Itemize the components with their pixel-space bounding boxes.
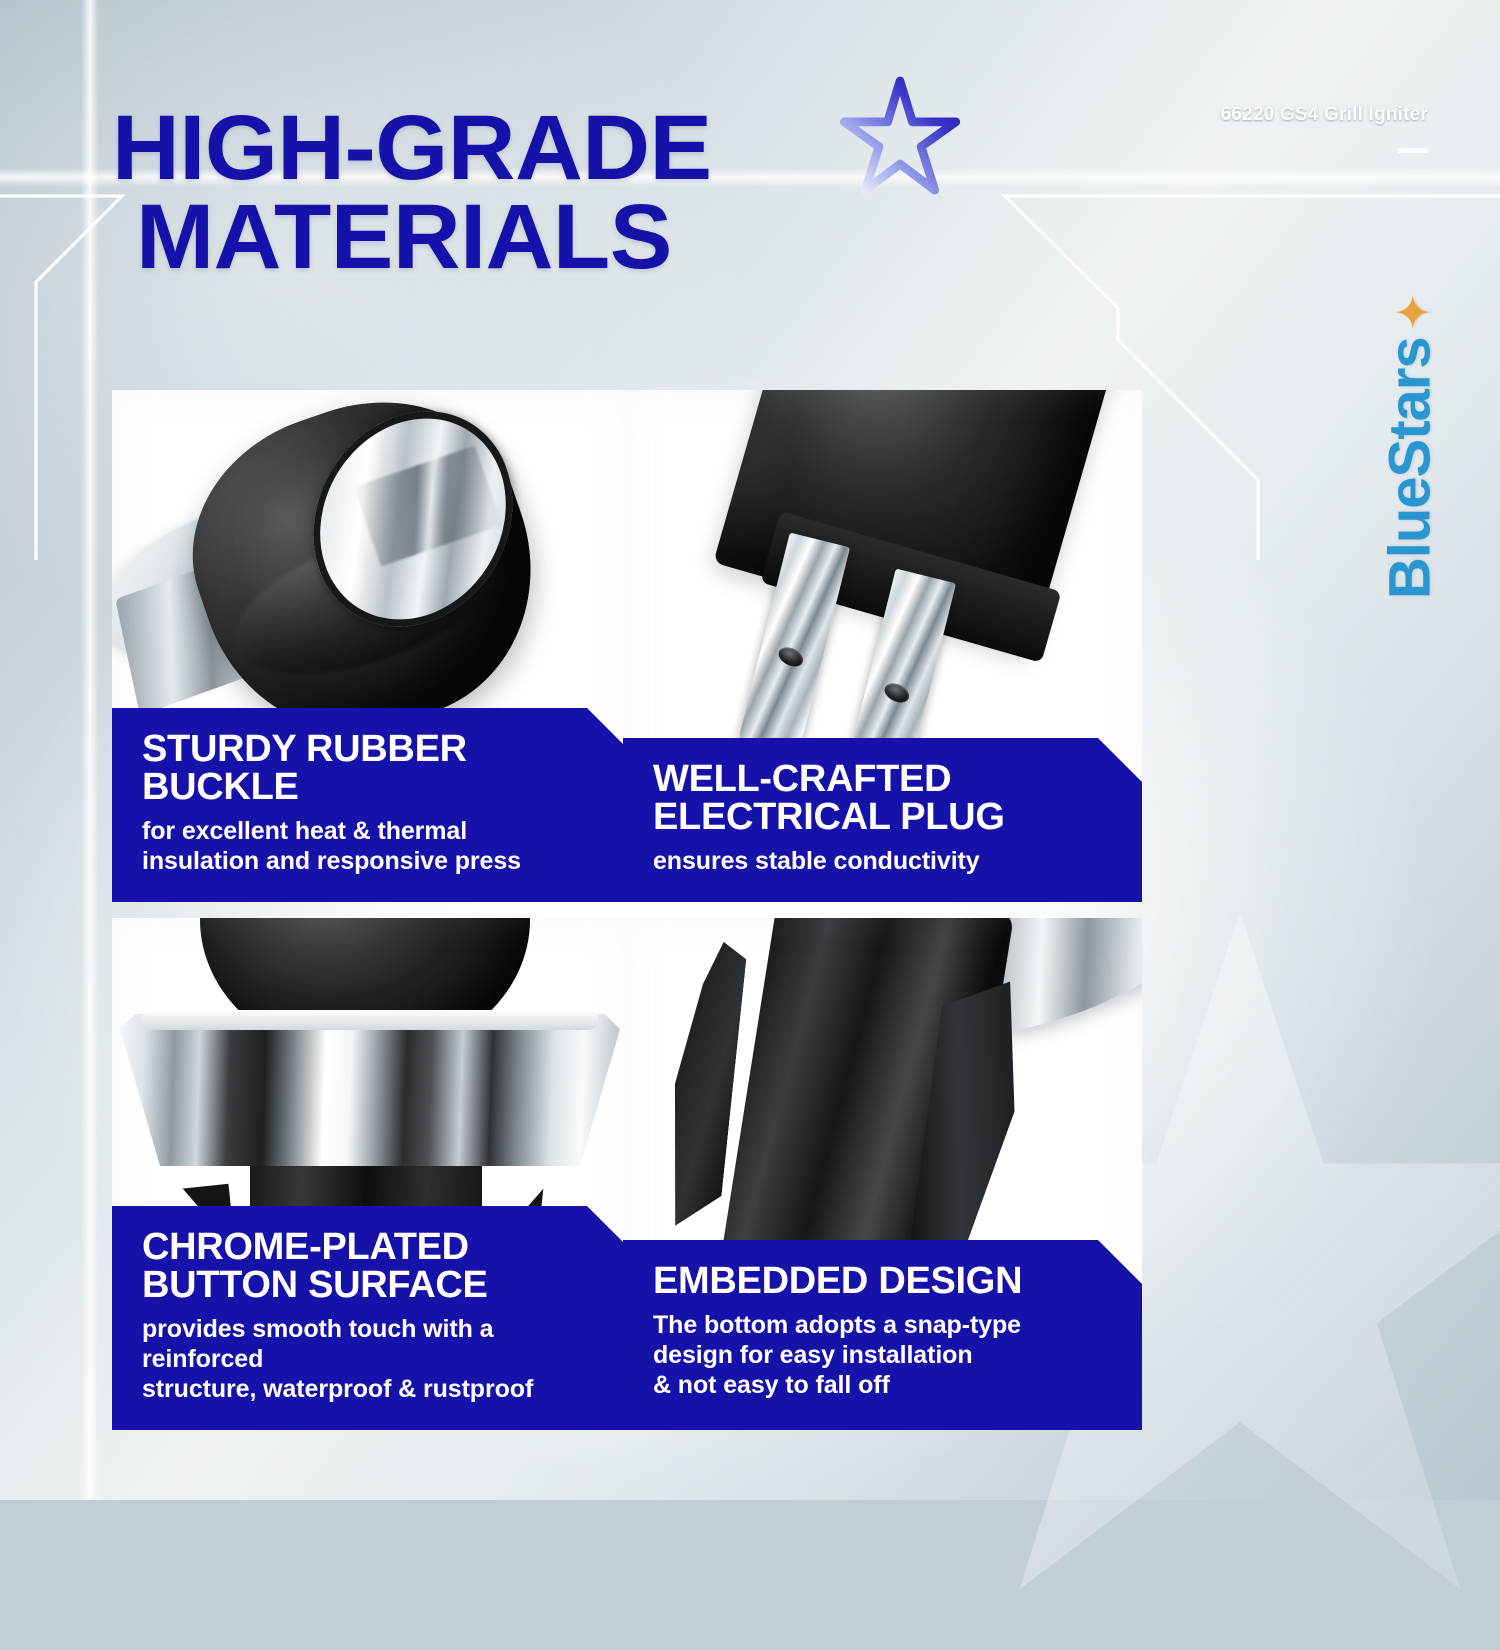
prong-hole-icon xyxy=(775,644,806,671)
feature-subtitle: ensures stable conductivity xyxy=(653,846,1118,876)
brand-name: BlueStars xyxy=(1377,337,1444,599)
feature-title: STURDY RUBBER BUCKLE xyxy=(142,730,607,806)
feature-title: EMBEDDED DESIGN xyxy=(653,1262,1118,1300)
feature-title: CHROME-PLATED BUTTON SURFACE xyxy=(142,1228,607,1304)
feature-caption: EMBEDDED DESIGN The bottom adopts a snap… xyxy=(623,1240,1142,1430)
feature-card-well-crafted-electrical-plug: WELL-CRAFTED ELECTRICAL PLUG ensures sta… xyxy=(623,390,1142,902)
page-title: HIGH-GRADE MATERIALS xyxy=(112,106,700,279)
feature-card-chrome-plated-button-surface: CHROME-PLATED BUTTON SURFACE provides sm… xyxy=(112,918,631,1430)
feature-subtitle-line: & not easy to fall off xyxy=(653,1370,1118,1400)
feature-subtitle-line: insulation and responsive press xyxy=(142,846,607,876)
feature-caption: STURDY RUBBER BUCKLE for excellent heat … xyxy=(112,708,631,902)
feature-card-sturdy-rubber-buckle: STURDY RUBBER BUCKLE for excellent heat … xyxy=(112,390,631,902)
product-sku: 66220 GS4 Grill Igniter xyxy=(1221,104,1428,153)
feature-card-embedded-design: EMBEDDED DESIGN The bottom adopts a snap… xyxy=(623,918,1142,1430)
feature-subtitle-line: design for easy installation xyxy=(653,1340,1118,1370)
outline-star-icon xyxy=(838,72,962,204)
feature-subtitle: provides smooth touch with a reinforced … xyxy=(142,1314,607,1404)
chrome-collar-shape xyxy=(120,1014,620,1166)
feature-caption: CHROME-PLATED BUTTON SURFACE provides sm… xyxy=(112,1206,631,1430)
page-title-line2: MATERIALS xyxy=(136,195,711,280)
dash-divider-icon xyxy=(1398,148,1428,153)
chrome-collar-top-edge xyxy=(142,1010,598,1030)
feature-subtitle-line: structure, waterproof & rustproof xyxy=(142,1374,607,1404)
feature-subtitle-line: for excellent heat & thermal xyxy=(142,816,607,846)
feature-grid: STURDY RUBBER BUCKLE for excellent heat … xyxy=(112,390,1142,1442)
feature-subtitle-line: The bottom adopts a snap-type xyxy=(653,1310,1118,1340)
brand-star-icon: ✦ xyxy=(1391,293,1437,332)
feature-subtitle-line: provides smooth touch with a reinforced xyxy=(142,1314,607,1374)
page-title-line1: HIGH-GRADE xyxy=(112,106,712,191)
product-sku-label: 66220 GS4 Grill Igniter xyxy=(1221,104,1428,126)
feature-caption: WELL-CRAFTED ELECTRICAL PLUG ensures sta… xyxy=(623,738,1142,902)
prong-hole-icon xyxy=(881,680,912,707)
feature-title: WELL-CRAFTED ELECTRICAL PLUG xyxy=(653,760,1118,836)
feature-subtitle: for excellent heat & thermal insulation … xyxy=(142,816,607,876)
feature-subtitle: The bottom adopts a snap-type design for… xyxy=(653,1310,1118,1400)
brand-logo: BlueStars ✦ xyxy=(1362,236,1458,656)
feature-subtitle-line: ensures stable conductivity xyxy=(653,846,1118,876)
